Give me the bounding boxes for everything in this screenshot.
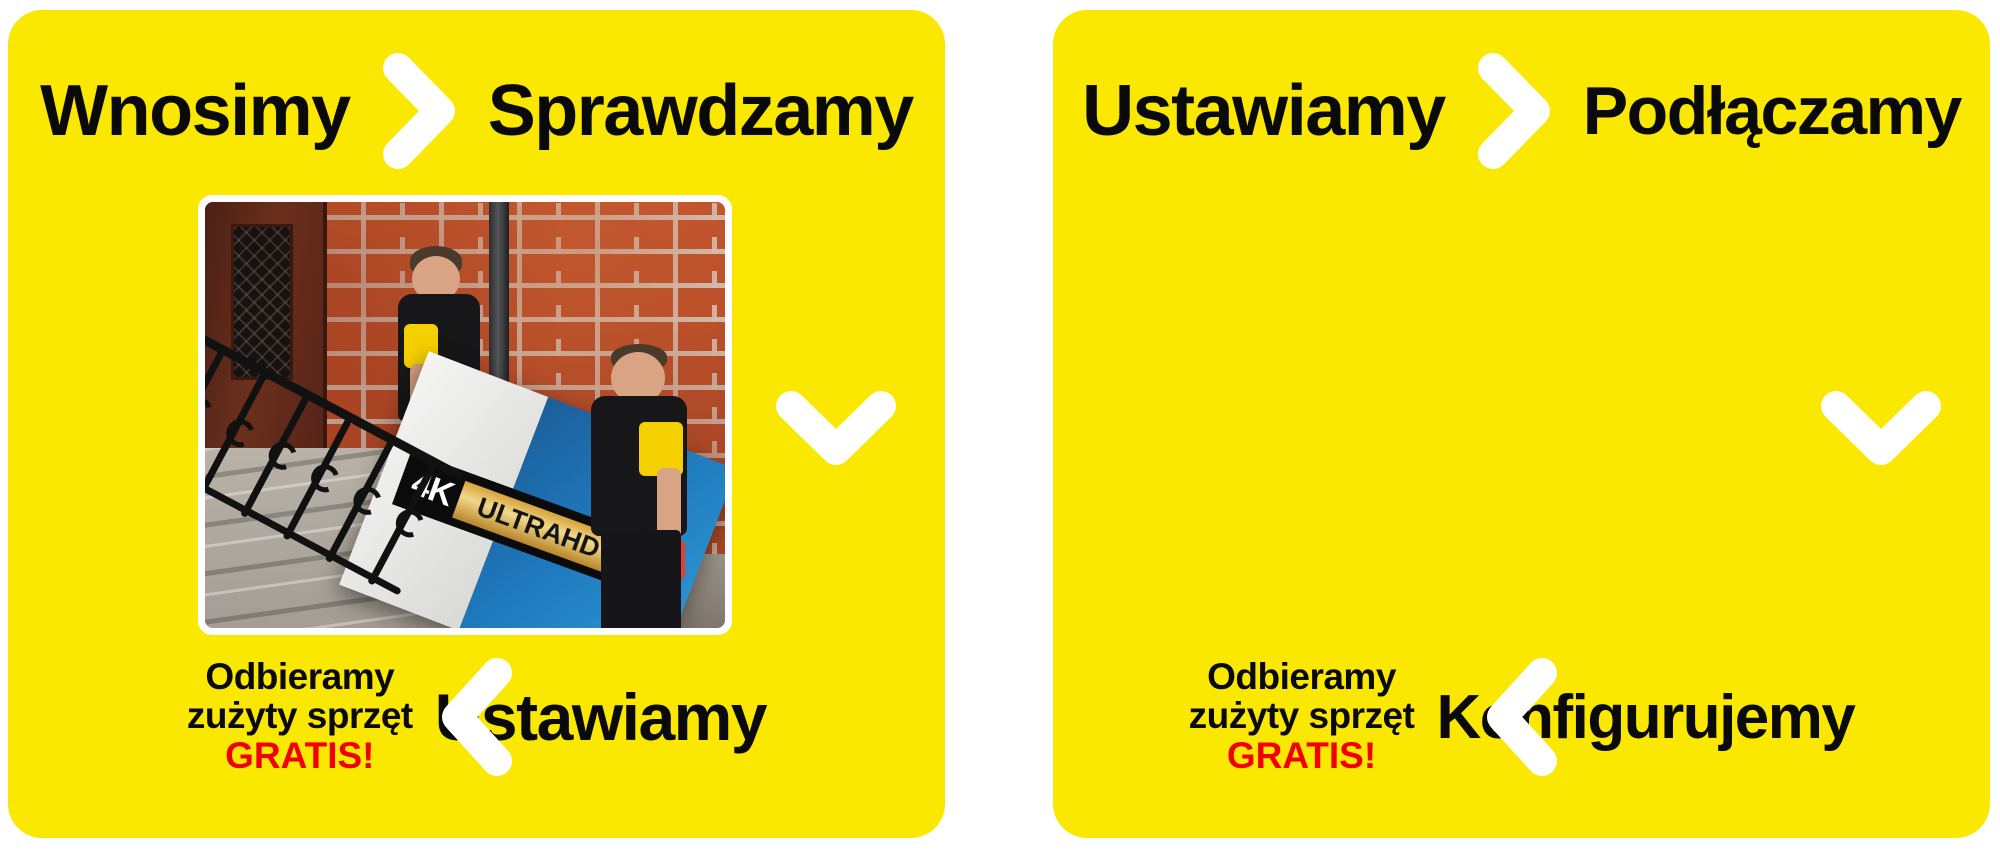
bottom-row-right: Odbieramy zużyty sprzęt GRATIS! Konfigur… xyxy=(1053,644,1990,790)
pickup-line-1: Odbieramy xyxy=(187,658,413,696)
step-label-podlaczamy: Podłączamy xyxy=(1583,77,1961,145)
chevron-left-icon xyxy=(1476,653,1568,781)
free-pickup-note-right: Odbieramy zużyty sprzęt GRATIS! xyxy=(1189,658,1415,775)
pickup-free-badge: GRATIS! xyxy=(1189,737,1415,775)
promo-banner: Wnosimy Sprawdzamy xyxy=(0,0,2000,857)
chevron-down-icon xyxy=(1818,384,1944,476)
chevron-left-icon xyxy=(431,653,523,781)
top-heading-row-right: Ustawiamy Podłączamy xyxy=(1053,56,1990,166)
service-step-card-right: Ustawiamy Podłączamy xyxy=(1053,10,1990,838)
step-label-sprawdzamy: Sprawdzamy xyxy=(488,75,913,147)
free-pickup-note-left: Odbieramy zużyty sprzęt GRATIS! xyxy=(187,658,413,775)
step-label-ustawiamy-top: Ustawiamy xyxy=(1082,75,1445,147)
pickup-line-2: zużyty sprzęt xyxy=(1189,697,1415,735)
chevron-down-icon xyxy=(773,384,899,476)
top-heading-row-left: Wnosimy Sprawdzamy xyxy=(8,56,945,166)
pickup-line-1: Odbieramy xyxy=(1189,658,1415,696)
step-label-wnosimy: Wnosimy xyxy=(40,75,350,147)
chevron-right-icon xyxy=(1471,50,1557,172)
service-step-card-left: Wnosimy Sprawdzamy xyxy=(8,10,945,838)
bottom-row-left: Odbieramy zużyty sprzęt GRATIS! Ustawiam… xyxy=(8,644,945,790)
photo-carry-tv: 4K ULTRAHD xyxy=(198,195,732,635)
worker-lower xyxy=(577,344,725,628)
chevron-right-icon xyxy=(376,50,462,172)
pickup-line-2: zużyty sprzęt xyxy=(187,697,413,735)
pickup-free-badge: GRATIS! xyxy=(187,737,413,775)
